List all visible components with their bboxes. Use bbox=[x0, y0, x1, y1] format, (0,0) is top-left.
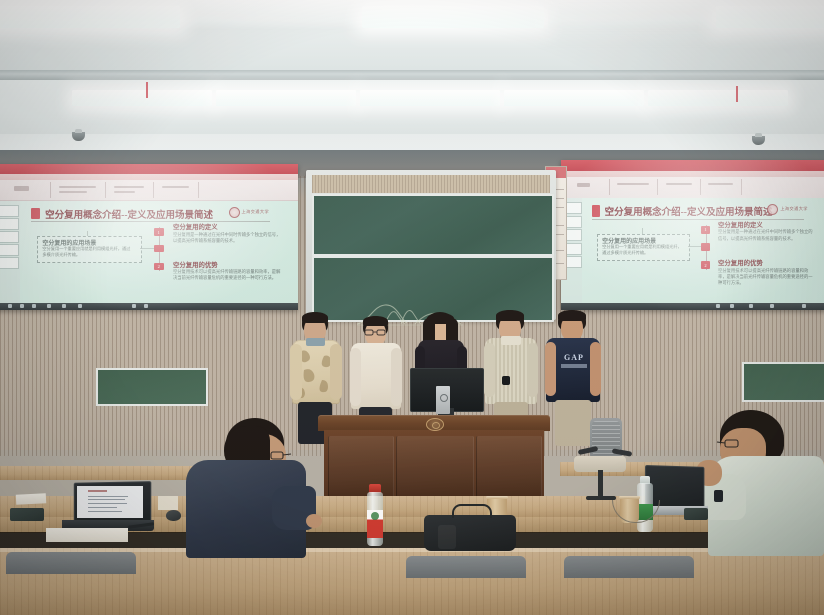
laptop-document bbox=[77, 486, 143, 518]
paper-stack bbox=[158, 496, 178, 510]
laptop-left-desk[interactable] bbox=[62, 482, 154, 530]
ceiling-speaker-icon bbox=[752, 136, 765, 145]
ribbon-icon bbox=[577, 183, 590, 188]
front-row-chair-back[interactable] bbox=[406, 556, 526, 578]
ceiling-lamp bbox=[0, 6, 180, 28]
slide-thumbnail[interactable] bbox=[0, 257, 19, 269]
hair-fringe bbox=[427, 313, 454, 324]
ribbon-icon bbox=[617, 183, 649, 185]
collar bbox=[501, 336, 521, 345]
slide-section-body: 空分复用技术可以提高光纤传输链路的容量和效率，是解决当前光纤传输容量危机的重要途… bbox=[718, 268, 817, 287]
ceiling-lamp bbox=[648, 90, 788, 106]
ppt-title-bar bbox=[561, 160, 824, 171]
taskbar-icon[interactable] bbox=[20, 304, 24, 308]
ceiling-lamp bbox=[216, 90, 356, 106]
projection-screen-right: 空分复用概念介绍--定义及应用场景简述 上海交通大学 空分复用的应用场景 空分复… bbox=[561, 160, 824, 310]
ribbon-icon bbox=[708, 183, 732, 185]
windows-taskbar[interactable] bbox=[0, 303, 298, 310]
university-wordmark: 上海交通大学 bbox=[242, 209, 270, 215]
ceiling bbox=[0, 0, 824, 160]
ribbon-icon bbox=[114, 191, 135, 193]
water-bottle-red-cap[interactable] bbox=[366, 484, 384, 546]
front-row-chair-back[interactable] bbox=[564, 556, 694, 578]
shirt-graphic-bar bbox=[561, 364, 587, 368]
university-seal-icon bbox=[767, 204, 778, 215]
document-line bbox=[88, 503, 128, 504]
chair-post bbox=[598, 470, 603, 498]
ribbon-icon bbox=[666, 183, 693, 185]
ceiling-lamp bbox=[504, 90, 644, 106]
podium bbox=[318, 415, 550, 503]
slide-section-badge bbox=[701, 243, 709, 250]
university-seal-icon bbox=[229, 207, 240, 218]
slide-left-box-body: 空分复用一个重要应用就是利用模组光纤，通过多模介质光纤传输。 bbox=[42, 246, 134, 258]
university-emblem-icon bbox=[426, 418, 444, 431]
taskbar-icon[interactable] bbox=[32, 304, 36, 308]
front-row-chair-back[interactable] bbox=[6, 552, 136, 574]
slide-title-underline bbox=[31, 221, 270, 222]
slide-section-body: 空分复用技术可以提高光纤传输链路的容量和效率，是解决当前光纤传输容量危机的重要途… bbox=[173, 269, 284, 281]
side-blackboard-right bbox=[742, 362, 824, 402]
office-chair-empty[interactable] bbox=[572, 418, 634, 504]
podium-panel bbox=[476, 436, 542, 498]
ceiling-rail bbox=[0, 70, 824, 80]
ceiling-speaker-icon bbox=[72, 132, 85, 141]
paper-sheet bbox=[46, 528, 128, 542]
ribbon-icon bbox=[59, 191, 86, 193]
taskbar-icon[interactable] bbox=[144, 304, 148, 308]
cup-rim bbox=[486, 496, 508, 499]
arm-left bbox=[350, 348, 361, 406]
ribbon-icon bbox=[162, 186, 189, 188]
ribbon-icon bbox=[114, 186, 144, 188]
ceiling-lamp bbox=[716, 6, 824, 28]
arm-right bbox=[330, 344, 342, 400]
ribbon-group bbox=[612, 179, 659, 195]
slide-section-heading: 空分复用的定义 bbox=[718, 220, 763, 229]
slide-section-badge: 1 bbox=[701, 226, 709, 233]
slide-thumbnail[interactable] bbox=[0, 218, 19, 230]
document-line bbox=[88, 499, 125, 500]
slide-left-box-body: 空分复用一个重要应用就是利用模组光纤，通过多模介质光纤传输。 bbox=[602, 244, 683, 256]
projection-screen-left: 空分复用概念介绍--定义及应用场景简述 上海交通大学 空分复用的应用场景 空分复… bbox=[0, 164, 298, 310]
taskbar-icon[interactable] bbox=[716, 304, 720, 308]
ribbon-group bbox=[156, 182, 199, 198]
ppt-slide-thumbnail-pane[interactable] bbox=[0, 201, 21, 311]
taskbar-icon[interactable] bbox=[132, 304, 136, 308]
slide-section-badge: 2 bbox=[154, 263, 163, 270]
slide-section-badge: 2 bbox=[701, 261, 709, 268]
hair-fringe bbox=[558, 310, 586, 321]
hair-fringe bbox=[363, 316, 388, 326]
ppt-ribbon bbox=[0, 180, 298, 201]
cup-rim bbox=[619, 496, 640, 499]
collar bbox=[306, 338, 325, 346]
podium-body bbox=[324, 430, 544, 503]
mouse[interactable] bbox=[166, 510, 181, 521]
ceiling-lamp bbox=[72, 90, 212, 106]
podium-panel bbox=[396, 436, 474, 498]
slide-title-underline bbox=[592, 219, 804, 220]
document-line bbox=[88, 511, 122, 512]
presenter-remote-icon bbox=[502, 376, 510, 385]
ceiling-marker bbox=[146, 82, 148, 98]
slide-title-accent-bar bbox=[592, 205, 600, 217]
shirt-graphic: GAP bbox=[561, 352, 587, 363]
ceiling-slab bbox=[0, 30, 824, 74]
taskbar-icon[interactable] bbox=[770, 304, 774, 308]
ceiling-lamp bbox=[548, 6, 712, 28]
slide-title-accent-bar bbox=[31, 208, 40, 219]
arm-right bbox=[590, 342, 601, 396]
slide-thumbnail[interactable] bbox=[0, 231, 19, 243]
arm-left bbox=[290, 344, 302, 400]
slide-section-heading: 空分复用的定义 bbox=[173, 222, 218, 231]
document-heading bbox=[88, 490, 108, 492]
university-logo: 上海交通大学 bbox=[767, 204, 808, 215]
arm-right bbox=[527, 343, 538, 397]
ribbon-group bbox=[703, 179, 742, 195]
slide-section-badge bbox=[154, 245, 163, 252]
university-logo: 上海交通大学 bbox=[229, 207, 270, 218]
ppt-title-bar bbox=[0, 164, 298, 174]
ribbon-icon bbox=[59, 186, 95, 188]
blackboard-valance bbox=[312, 175, 550, 193]
ribbon-group bbox=[572, 179, 611, 195]
document-line bbox=[88, 496, 129, 497]
hair-fringe bbox=[302, 312, 328, 323]
hair-fringe bbox=[496, 310, 524, 321]
podium-panel bbox=[328, 436, 394, 498]
ceiling-marker bbox=[736, 86, 738, 102]
slide-section-body: 空分复用是一种通过在光纤中同时传输多个独立的信号，以提高光纤传输系统容量的技术。 bbox=[718, 229, 817, 241]
arm-left bbox=[545, 342, 556, 396]
bag-pocket bbox=[438, 525, 456, 549]
audience-2 bbox=[700, 410, 824, 560]
bottle-label-graphic bbox=[371, 512, 379, 520]
slide-connector-tick bbox=[87, 231, 88, 236]
slide-section-body: 空分复用是一种通过在光纤中同时传输多个独立的信号，以提高光纤传输系统容量的技术。 bbox=[173, 232, 284, 244]
glasses-icon bbox=[364, 329, 387, 336]
windows-taskbar[interactable] bbox=[561, 303, 824, 311]
taskbar-icon[interactable] bbox=[47, 304, 51, 308]
bag-handle bbox=[452, 504, 492, 518]
slide-thumbnail[interactable] bbox=[0, 244, 19, 256]
document-line bbox=[88, 507, 117, 508]
ppt-slide-stage: 空分复用概念介绍--定义及应用场景简述 上海交通大学 空分复用的应用场景 空分复… bbox=[582, 198, 824, 305]
taskbar-icon[interactable] bbox=[78, 304, 82, 308]
arm-left bbox=[484, 343, 495, 397]
smartphone[interactable] bbox=[10, 508, 44, 521]
taskbar-icon[interactable] bbox=[802, 304, 806, 308]
taskbar-icon[interactable] bbox=[62, 304, 66, 308]
ceiling-lamp bbox=[360, 90, 500, 106]
arm-right bbox=[391, 348, 402, 406]
slide-section-badge: 1 bbox=[154, 228, 163, 235]
slide-thumbnail[interactable] bbox=[0, 205, 19, 217]
blackboard-panel-upper bbox=[312, 194, 554, 256]
side-blackboard-left bbox=[96, 368, 208, 406]
ceiling-lamp bbox=[362, 6, 544, 28]
slide-connector-tick bbox=[642, 228, 643, 233]
slide-title: 空分复用概念介绍--定义及应用场景简述 bbox=[45, 207, 213, 221]
slide-title: 空分复用概念介绍--定义及应用场景简述 bbox=[605, 204, 773, 218]
classroom-photo: 空分复用概念介绍--定义及应用场景简述 上海交通大学 空分复用的应用场景 空分复… bbox=[0, 0, 824, 615]
smartphone-right[interactable] bbox=[684, 508, 708, 520]
duffel-bag[interactable] bbox=[424, 515, 516, 551]
notepad bbox=[16, 493, 46, 505]
hand bbox=[306, 514, 322, 528]
glasses-icon bbox=[716, 438, 740, 449]
slide-section-heading: 空分复用的优势 bbox=[173, 260, 218, 269]
ppt-ribbon bbox=[561, 177, 824, 199]
tower-logo-icon bbox=[440, 394, 448, 402]
taskbar-icon[interactable] bbox=[749, 304, 753, 308]
wristwatch-icon bbox=[714, 490, 723, 502]
taskbar-icon[interactable] bbox=[730, 304, 734, 308]
taskbar-icon[interactable] bbox=[8, 304, 12, 308]
ppt-slide-stage: 空分复用概念介绍--定义及应用场景简述 上海交通大学 空分复用的应用场景 空分复… bbox=[20, 201, 298, 305]
slide-section-heading: 空分复用的优势 bbox=[718, 258, 763, 267]
university-wordmark: 上海交通大学 bbox=[780, 206, 808, 212]
audience-1 bbox=[186, 418, 316, 563]
ribbon-group bbox=[660, 179, 701, 195]
ribbon-icon bbox=[14, 186, 29, 190]
